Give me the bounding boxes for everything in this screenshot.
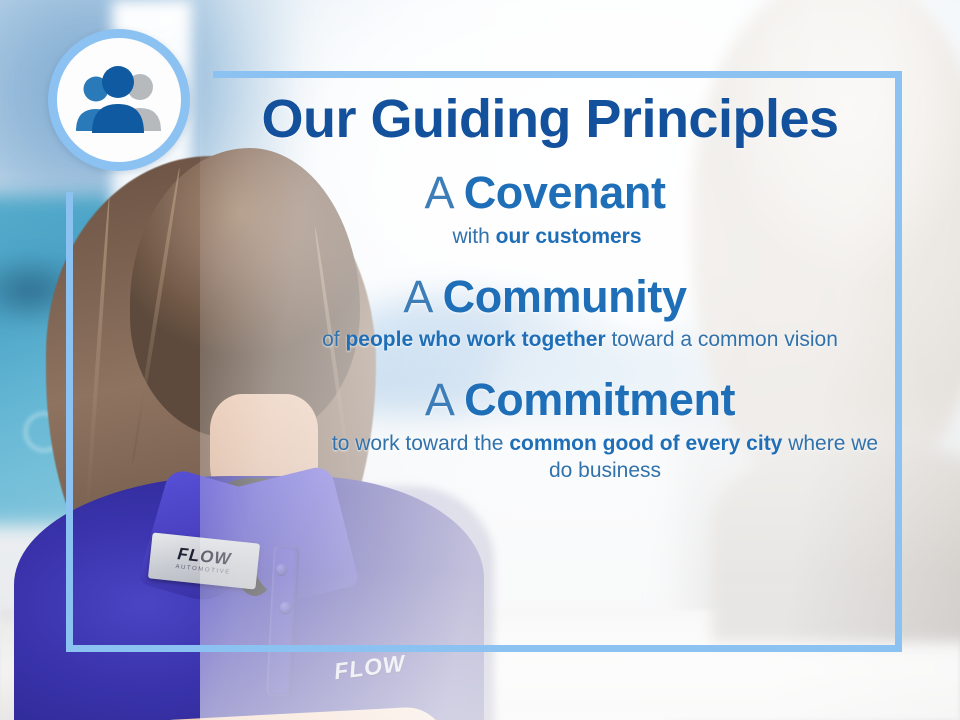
principle-title: A Commitment (210, 376, 890, 424)
principle-subtitle: of people who work together toward a com… (210, 327, 880, 354)
sub-tail: toward a common vision (606, 328, 838, 351)
sub-bold: our customers (496, 225, 642, 248)
sub-bold: common good of every city (509, 432, 782, 455)
principle-subtitle: to work toward the common good of every … (210, 431, 890, 485)
principle-keyword: Community (443, 271, 687, 322)
sub-lead: with (452, 225, 495, 248)
people-badge (48, 29, 190, 171)
principle-keyword: Covenant (464, 167, 666, 218)
sub-lead: of (322, 328, 345, 351)
principle-community: A Community of people who work together … (210, 273, 890, 355)
page-title: Our Guiding Principles (210, 76, 890, 147)
sub-lead: to work toward the (332, 432, 509, 455)
principle-subtitle: with our customers (210, 224, 890, 251)
sub-bold: people who work together (345, 328, 605, 351)
principle-title: A Community (210, 273, 880, 321)
principle-title: A Covenant (210, 169, 890, 217)
principle-article: A (425, 374, 452, 425)
text-block: Our Guiding Principles A Covenant with o… (210, 76, 890, 642)
principle-article: A (424, 167, 451, 218)
principle-keyword: Commitment (464, 374, 735, 425)
principle-commitment: A Commitment to work toward the common g… (210, 376, 890, 484)
guiding-principles-banner: FLOW AUTOMOTIVE FLOW (0, 0, 960, 720)
three-people-icon (71, 65, 167, 135)
principle-covenant: A Covenant with our customers (210, 169, 890, 251)
principle-article: A (403, 271, 430, 322)
